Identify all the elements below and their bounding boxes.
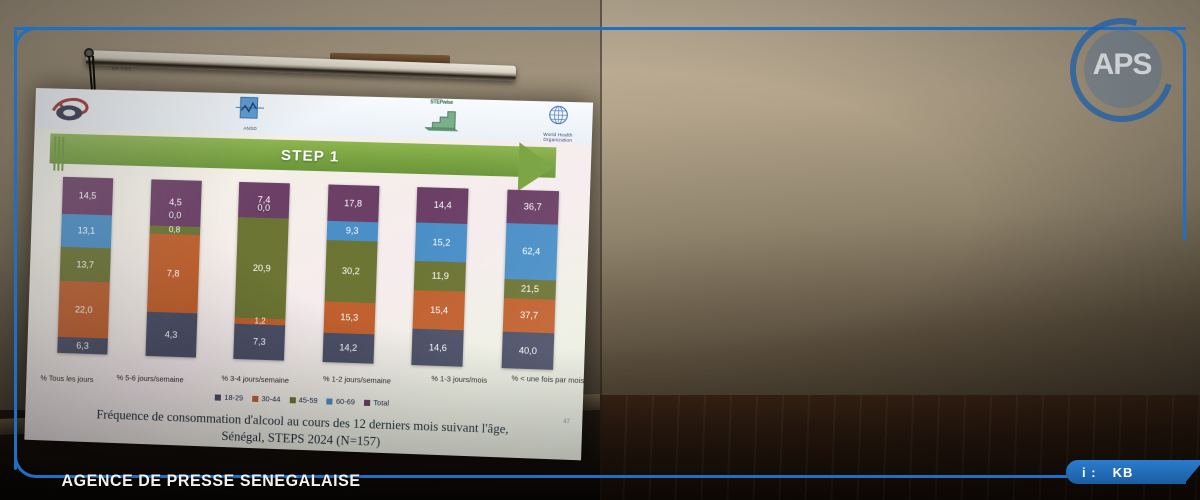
bar-segment-18-29: 14,6 <box>412 329 464 367</box>
slide-number-left: 47 <box>563 419 570 425</box>
legend-item-18-29: 18-29 <box>215 392 243 402</box>
overlay-border-top <box>14 27 1186 30</box>
bar-segment-18-29: 4,3 <box>145 312 197 357</box>
slide-step-1: ANSD STEPwise <box>24 88 593 460</box>
bar-segment-60-69: 15,2 <box>415 223 468 262</box>
bar-segment-18-29: 40,0 <box>502 332 555 370</box>
bar-segment-45-59: 11,9 <box>414 261 466 292</box>
bar-segment-value: 21,5 <box>521 284 539 294</box>
ministry-swirl-logo <box>49 92 96 125</box>
who-logo: World Health Organization <box>532 103 585 141</box>
banner-title-left: STEP 1 <box>281 146 340 165</box>
bar-segment-value: 13,7 <box>76 260 94 270</box>
bar-segment-value: 62,4 <box>522 247 540 257</box>
stacked-bar: 14,415,211,915,414,6 <box>412 187 469 367</box>
bar-segment-value: 15,3 <box>340 313 358 323</box>
bar-segment-Total: 36,7 <box>506 190 559 225</box>
bar-column: 14,513,113,722,06,3 <box>57 177 113 355</box>
bar-segment-value: 0,8 <box>169 226 180 234</box>
stacked-bar-group: 14,513,113,722,06,34,50,00,87,84,37,40,0… <box>45 176 571 370</box>
bar-segment-Total: 17,8 <box>327 184 379 222</box>
bar-segment-value: 7,3 <box>253 337 266 346</box>
legend-swatch <box>327 398 333 404</box>
bar-segment-value: 4,3 <box>165 330 178 339</box>
overlay-border-left <box>14 30 17 470</box>
x-axis-label: % < une fois par mois <box>511 374 584 386</box>
x-axis-label: % 3-4 jours/semaine <box>221 374 289 385</box>
bar-segment-30-44: 37,7 <box>503 298 556 334</box>
bar-segment-30-44: 7,8 <box>147 233 200 314</box>
bar-column: 7,40,020,91,27,3 <box>233 182 290 361</box>
bar-segment-value: 9,3 <box>346 226 359 235</box>
badge-prefix: i : <box>1082 465 1097 480</box>
legend-swatch <box>364 399 370 405</box>
bar-segment-value: 0,0 <box>257 204 270 213</box>
legend-item-Total: Total <box>364 398 389 408</box>
legend-item-45-59: 45-59 <box>289 395 317 405</box>
bar-segment-18-29: 7,3 <box>233 324 285 361</box>
bar-segment-Total: 14,5 <box>62 177 113 215</box>
bar-segment-value: 0,0 <box>169 211 182 220</box>
bar-column: 4,50,00,87,84,3 <box>145 179 201 357</box>
bar-segment-45-59: 21,5 <box>504 279 556 300</box>
bar-segment-Total: 7,4 <box>238 182 290 219</box>
legend-item-60-69: 60-69 <box>327 396 355 406</box>
legend-label: 18-29 <box>224 393 243 403</box>
roller-label-left: DR-CWS <box>112 66 132 72</box>
stacked-bar: 17,89,330,215,314,2 <box>322 184 379 363</box>
bar-segment-60-69: 13,1 <box>61 213 112 248</box>
status-badge: i : KB <box>1066 460 1186 484</box>
legend-swatch <box>215 394 221 400</box>
broadcast-frame: DR-CWS <box>0 0 1200 500</box>
bar-segment-value: 6,3 <box>76 341 89 350</box>
room-floor-right <box>600 395 1200 500</box>
legend-label: 45-59 <box>299 395 318 405</box>
panel-divider <box>600 0 602 500</box>
x-axis-label: % 5-6 jours/semaine <box>116 373 183 384</box>
aps-wordmark: APS <box>1070 48 1174 82</box>
badge-label: KB <box>1113 465 1134 480</box>
legend-swatch <box>252 395 258 401</box>
bar-segment-45-59: 30,2 <box>324 240 377 303</box>
bar-segment-value: 22,0 <box>75 305 93 315</box>
x-axis-label: % 1-3 jours/mois <box>431 374 487 385</box>
bar-segment-value: 37,7 <box>520 311 538 321</box>
bar-segment-value: 13,1 <box>77 226 95 236</box>
bar-segment-value: 14,2 <box>339 343 357 353</box>
bar-segment-30-44: 22,0 <box>58 281 110 338</box>
stacked-bar: 14,513,113,722,06,3 <box>57 177 113 355</box>
legend-label: 60-69 <box>336 397 355 407</box>
alcohol-frequency-chart: 14,513,113,722,06,34,50,00,87,84,37,40,0… <box>24 168 590 460</box>
bar-segment-30-44: 15,4 <box>413 290 466 330</box>
bar-segment-value: 14,4 <box>434 201 452 211</box>
lower-third-banner: AGENCE DE PRESSE SENEGALAISE <box>48 466 373 496</box>
bar-segment-value: 36,7 <box>524 202 542 212</box>
bar-column: 36,762,421,537,740,0 <box>502 190 560 370</box>
bar-segment-Total: 14,4 <box>416 187 468 224</box>
bar-segment-60-69: 62,4 <box>505 223 558 281</box>
overlay-border-right <box>1183 60 1186 240</box>
bar-segment-value: 40,0 <box>519 346 537 356</box>
stepwise-logo: STEPwise <box>417 99 465 139</box>
bar-segment-value: 4,5 <box>169 198 182 207</box>
bar-segment-value: 11,9 <box>431 272 449 282</box>
bar-segment-18-29: 6,3 <box>57 337 108 355</box>
x-axis-label: % Tous les jours <box>40 373 93 384</box>
video-panel-left: DR-CWS <box>0 0 600 500</box>
bar-segment-value: 15,2 <box>432 238 450 248</box>
bar-column: 17,89,330,215,314,2 <box>322 184 379 363</box>
bar-segment-value: 20,9 <box>253 264 271 274</box>
aps-watermark-logo: APS <box>1070 18 1174 122</box>
bar-segment-45-59: 13,7 <box>60 247 111 283</box>
legend-swatch <box>289 397 295 403</box>
x-axis-label: % 1-2 jours/semaine <box>323 374 391 385</box>
bar-segment-45-59: 20,9 <box>235 218 289 320</box>
legend-label: Total <box>373 398 389 408</box>
bar-segment-60-69: 9,3 <box>326 221 378 242</box>
banner-tick-marks <box>53 137 66 171</box>
ansd-logo: ANSD <box>232 95 270 132</box>
bar-segment-value: 17,8 <box>344 199 362 209</box>
bar-segment-value: 7,8 <box>167 269 180 278</box>
bar-segment-value: 15,4 <box>430 305 448 315</box>
bar-segment-30-44: 15,3 <box>323 302 375 335</box>
bar-segment-18-29: 14,2 <box>322 333 374 364</box>
stacked-bar: 36,762,421,537,740,0 <box>502 190 560 370</box>
bar-segment-value: 14,6 <box>429 343 447 353</box>
stacked-bar: 7,40,020,91,27,3 <box>233 182 290 361</box>
legend-label: 30-44 <box>261 394 280 404</box>
bar-segment-value: 30,2 <box>342 267 360 277</box>
stacked-bar: 4,50,00,87,84,3 <box>145 179 201 357</box>
ansd-logo-caption: ANSD <box>232 126 269 132</box>
legend-item-30-44: 30-44 <box>252 394 280 404</box>
bar-segment-value: 14,5 <box>79 191 97 201</box>
bar-column: 14,415,211,915,414,6 <box>412 187 469 367</box>
